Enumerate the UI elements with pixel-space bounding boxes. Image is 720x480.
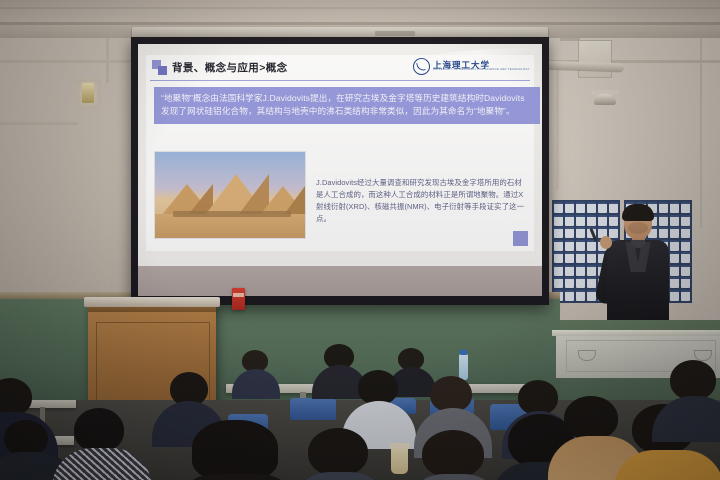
- slide-body: J.Davidovits经过大量调查和研究发现古埃及金字塔所用的石材是人工合成的…: [154, 151, 526, 239]
- dome-camera: [594, 94, 616, 105]
- cubby-slot: [565, 202, 574, 213]
- university-logo-mark-icon: [413, 58, 430, 75]
- water-bottle: [459, 354, 468, 380]
- cubby-slot: [681, 215, 690, 226]
- cubby-slot: [587, 252, 596, 263]
- cubby-slot: [681, 202, 690, 213]
- red-box-label: [233, 293, 244, 297]
- cubby-slot: [565, 277, 574, 288]
- slide-paragraph-text: J.Davidovits经过大量调查和研究发现古埃及金字塔所用的石材是人工合成的…: [316, 151, 526, 239]
- cubby-slot: [565, 227, 574, 238]
- slide-callout-text: “地聚物”概念由法国科学家J.Davidovits提出，在研究古埃及金字塔等历史…: [154, 87, 540, 124]
- cubby-slot: [587, 265, 596, 276]
- desert-sand: [155, 214, 305, 238]
- conduit-pipe: [560, 38, 580, 41]
- presentation-slide: 背景、概念与应用>概念 上海理工大学 UNIVERSITY OF SHANGHA…: [146, 55, 534, 251]
- ceiling-seam: [0, 22, 720, 25]
- cubby-slot: [576, 277, 585, 288]
- side-cabinet-top: [552, 330, 720, 336]
- cubby-slot: [554, 227, 563, 238]
- cubby-slot: [554, 240, 563, 251]
- conduit-pipe: [0, 122, 78, 125]
- projection-screen-shadow: [138, 266, 542, 296]
- cubby-slot: [576, 252, 585, 263]
- cubby-slot: [554, 215, 563, 226]
- cubby-slot: [681, 227, 690, 238]
- conduit-pipe: [556, 60, 559, 190]
- presenter-face-shadow: [628, 222, 648, 234]
- cubby-slot: [576, 202, 585, 213]
- university-logo: 上海理工大学 UNIVERSITY OF SHANGHAI FOR SCIENC…: [413, 58, 530, 75]
- cubby-slot: [554, 252, 563, 263]
- wall-lamp: [82, 83, 94, 103]
- cubby-slot: [565, 265, 574, 276]
- slide-accent-square-icon: [513, 231, 528, 246]
- pyramid-photo: [154, 151, 306, 239]
- ac-unit-box: [578, 40, 612, 78]
- cubby-slot: [587, 277, 596, 288]
- cubby-slot: [681, 240, 690, 251]
- paper-cup: [391, 446, 408, 474]
- podium-top: [84, 297, 220, 307]
- screen-case-label: [375, 31, 415, 36]
- cubby-slot: [681, 277, 690, 288]
- slide-title-bar: 背景、概念与应用>概念 上海理工大学 UNIVERSITY OF SHANGHA…: [146, 55, 534, 81]
- cubby-slot: [554, 265, 563, 276]
- cubby-slot: [576, 215, 585, 226]
- presenter-hair: [622, 204, 654, 221]
- red-box: [232, 288, 245, 310]
- cubby-slot: [587, 215, 596, 226]
- conduit-pipe: [0, 60, 132, 63]
- cubby-slot: [587, 202, 596, 213]
- cubby-slot: [576, 265, 585, 276]
- cubby-slot: [576, 240, 585, 251]
- podium-edge: [88, 307, 216, 312]
- cubby-slot: [565, 290, 574, 301]
- paper-cup-lid: [389, 443, 410, 449]
- cubby-slot: [576, 227, 585, 238]
- cubby-slot: [576, 290, 585, 301]
- cubby-slot: [554, 277, 563, 288]
- cubby-slot: [565, 240, 574, 251]
- wall-seam: [700, 38, 702, 228]
- slide-title: 背景、概念与应用>概念: [172, 60, 288, 75]
- lecture-hall-photo: 背景、概念与应用>概念 上海理工大学 UNIVERSITY OF SHANGHA…: [0, 0, 720, 480]
- cubby-slot: [565, 215, 574, 226]
- cubby-slot: [554, 202, 563, 213]
- cubby-slot: [681, 290, 690, 301]
- slide-accent-square-icon: [158, 66, 167, 75]
- ruins-row: [173, 211, 291, 217]
- cubby-slot: [681, 252, 690, 263]
- university-logo-subtext: UNIVERSITY OF SHANGHAI FOR SCIENCE AND T…: [433, 69, 530, 72]
- slide-title-divider: [150, 80, 530, 81]
- water-bottle-cap: [460, 350, 467, 355]
- cubby-slot: [565, 252, 574, 263]
- cubby-slot: [681, 265, 690, 276]
- ceiling-seam: [0, 7, 720, 9]
- cubby-slot: [587, 290, 596, 301]
- auditorium-chair: [290, 398, 336, 420]
